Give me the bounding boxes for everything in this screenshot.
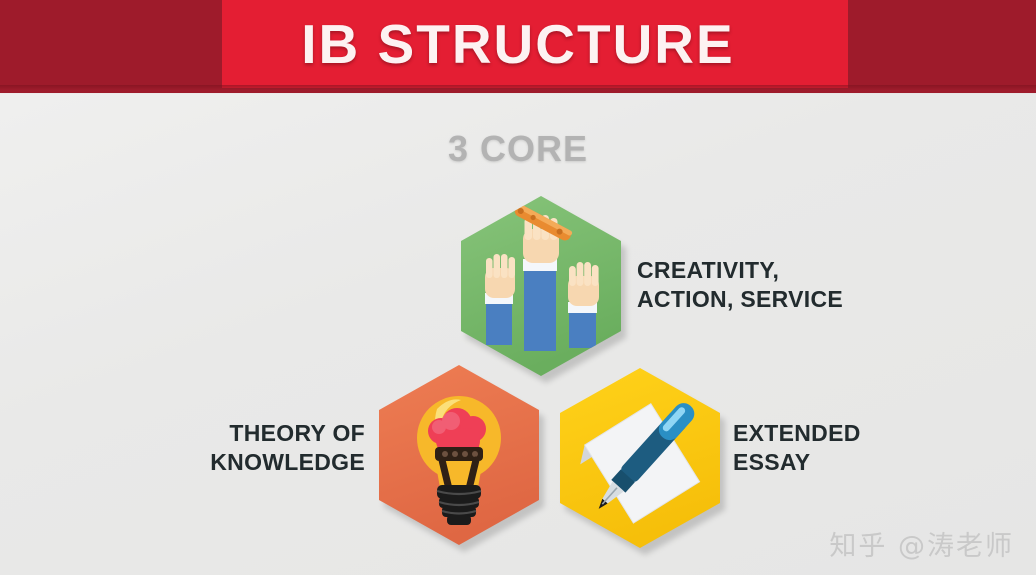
label-cas-line2: ACTION, SERVICE [637,285,937,314]
slide-canvas: IB STRUCTURE 3 CORE [0,0,1036,575]
label-tok-line2: KNOWLEDGE [155,448,365,477]
label-ee-line1: EXTENDED [733,419,993,448]
label-theory-of-knowledge: THEORY OF KNOWLEDGE [155,419,365,478]
label-creativity-action-service: CREATIVITY, ACTION, SERVICE [637,256,937,315]
hexagon-yellow-shape [560,368,720,548]
label-ee-line2: ESSAY [733,448,993,477]
hexagon-theory-of-knowledge[interactable] [379,365,539,545]
label-tok-line1: THEORY OF [155,419,365,448]
hexagon-green-shape [461,196,621,376]
hexagon-extended-essay[interactable] [560,368,720,548]
label-cas-line1: CREATIVITY, [637,256,937,285]
hexagon-orange-shape [379,365,539,545]
label-extended-essay: EXTENDED ESSAY [733,419,993,478]
watermark-zhihu: 知乎 @涛老师 [829,524,1014,563]
section-label-3-core: 3 CORE [0,128,1036,170]
hexagon-creativity-action-service[interactable] [461,196,621,376]
header-band-shadow [0,85,1036,94]
header-band: IB STRUCTURE [0,0,1036,93]
page-title: IB STRUCTURE [0,10,1036,78]
